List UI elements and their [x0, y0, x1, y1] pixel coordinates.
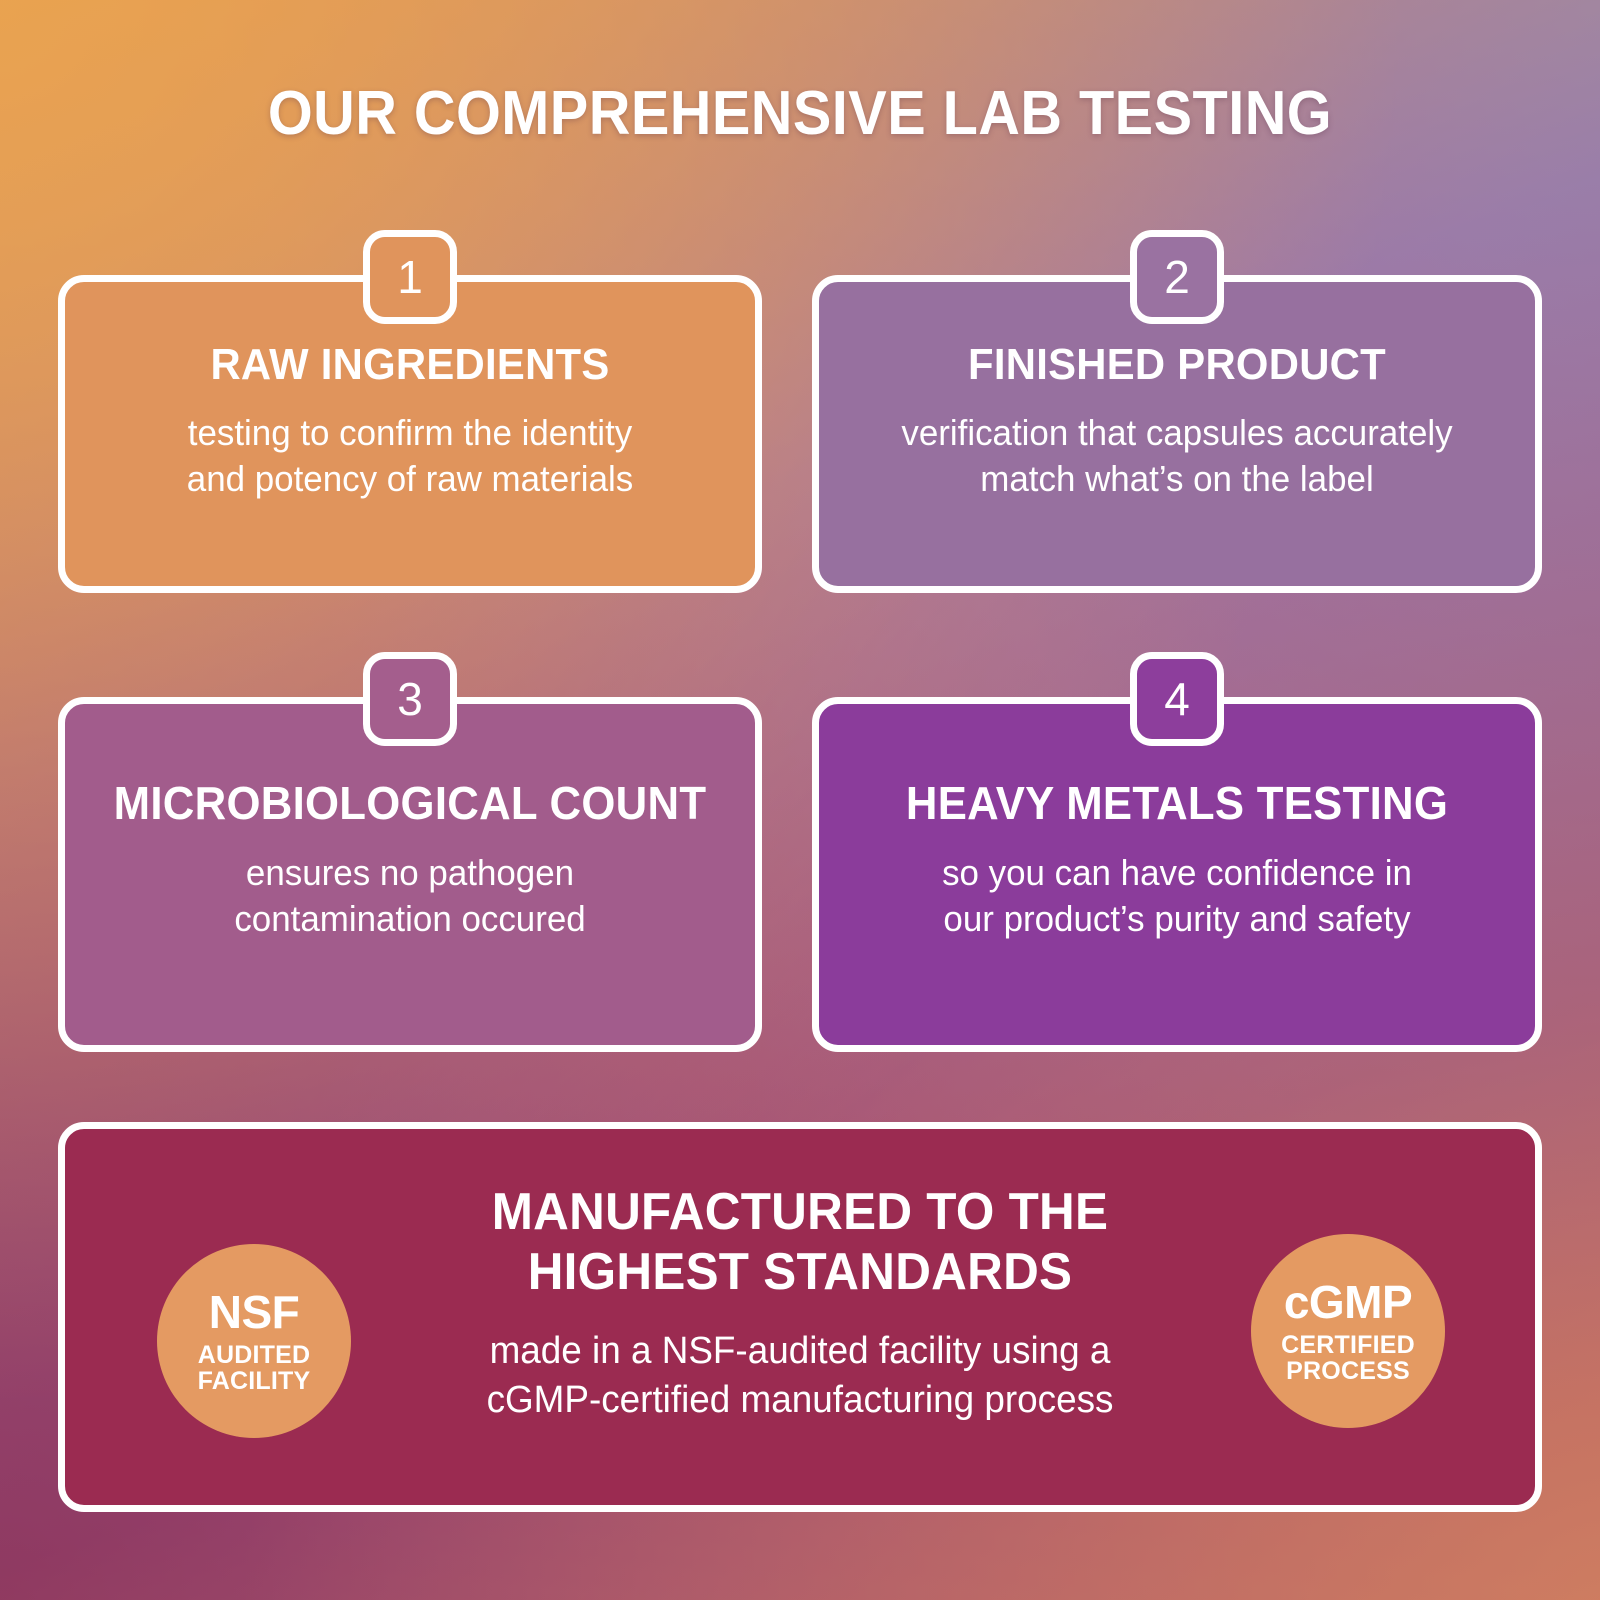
step-number-badge-1: 1	[363, 230, 457, 324]
manufacturing-standards-banner: NSF AUDITED FACILITY MANUFACTURED TO THE…	[58, 1122, 1542, 1512]
step-number-badge-4: 4	[1130, 652, 1224, 746]
cgmp-seal-main-label: cGMP	[1284, 1278, 1412, 1326]
card-title-4: HEAVY METALS TESTING	[858, 776, 1496, 830]
nsf-audited-facility-seal: NSF AUDITED FACILITY	[157, 1244, 351, 1438]
step-number-badge-2: 2	[1130, 230, 1224, 324]
card-title-3: MICROBIOLOGICAL COUNT	[103, 776, 717, 830]
nsf-seal-sub-label-line1: AUDITED	[198, 1342, 311, 1368]
cgmp-seal-sub-label-line1: CERTIFIED	[1281, 1332, 1415, 1358]
card-content-4: HEAVY METALS TESTING so you can have con…	[819, 776, 1535, 942]
card-description-4: so you can have confidence in our produc…	[851, 850, 1503, 942]
card-description-line-3a: ensures no pathogen	[97, 850, 724, 896]
page-title: OUR COMPREHENSIVE LAB TESTING	[56, 78, 1544, 149]
card-title-1: RAW INGREDIENTS	[103, 340, 717, 390]
nsf-seal-sub-label-line2: FACILITY	[198, 1368, 311, 1394]
nsf-seal-main-label: NSF	[209, 1288, 300, 1336]
card-content-3: MICROBIOLOGICAL COUNT ensures no pathoge…	[65, 776, 755, 942]
banner-content: MANUFACTURED TO THE HIGHEST STANDARDS ma…	[325, 1183, 1275, 1425]
banner-title-line1: MANUFACTURED TO THE	[349, 1183, 1252, 1243]
cgmp-certified-process-seal: cGMP CERTIFIED PROCESS	[1251, 1234, 1445, 1428]
card-description-line-1a: testing to confirm the identity	[97, 410, 724, 456]
card-description-line-2b: match what’s on the label	[851, 456, 1503, 502]
testing-card-heavy-metals-testing: 4 HEAVY METALS TESTING so you can have c…	[812, 697, 1542, 1052]
banner-description-line1: made in a NSF-audited facility using a	[339, 1327, 1261, 1376]
card-title-2: FINISHED PRODUCT	[858, 340, 1496, 390]
card-description-line-2a: verification that capsules accurately	[851, 410, 1503, 456]
step-number-badge-3: 3	[363, 652, 457, 746]
card-description-line-3b: contamination occured	[97, 896, 724, 942]
card-description-line-4a: so you can have confidence in	[851, 850, 1503, 896]
testing-card-raw-ingredients: 1 RAW INGREDIENTS testing to confirm the…	[58, 275, 762, 593]
testing-card-finished-product: 2 FINISHED PRODUCT verification that cap…	[812, 275, 1542, 593]
banner-description-line2: cGMP-certified manufacturing process	[339, 1376, 1261, 1425]
card-description-line-1b: and potency of raw materials	[97, 456, 724, 502]
card-description-3: ensures no pathogen contamination occure…	[97, 850, 724, 942]
card-description-2: verification that capsules accurately ma…	[851, 410, 1503, 502]
banner-title-line2: HIGHEST STANDARDS	[349, 1243, 1252, 1303]
banner-description: made in a NSF-audited facility using a c…	[339, 1327, 1261, 1426]
card-content-2: FINISHED PRODUCT verification that capsu…	[819, 340, 1535, 502]
card-content-1: RAW INGREDIENTS testing to confirm the i…	[65, 340, 755, 502]
card-description-1: testing to confirm the identity and pote…	[97, 410, 724, 502]
banner-title: MANUFACTURED TO THE HIGHEST STANDARDS	[349, 1183, 1252, 1303]
card-description-line-4b: our product’s purity and safety	[851, 896, 1503, 942]
cgmp-seal-sub-label-line2: PROCESS	[1286, 1358, 1410, 1384]
testing-card-microbiological-count: 3 MICROBIOLOGICAL COUNT ensures no patho…	[58, 697, 762, 1052]
infographic-page: OUR COMPREHENSIVE LAB TESTING 1 RAW INGR…	[0, 0, 1600, 1600]
